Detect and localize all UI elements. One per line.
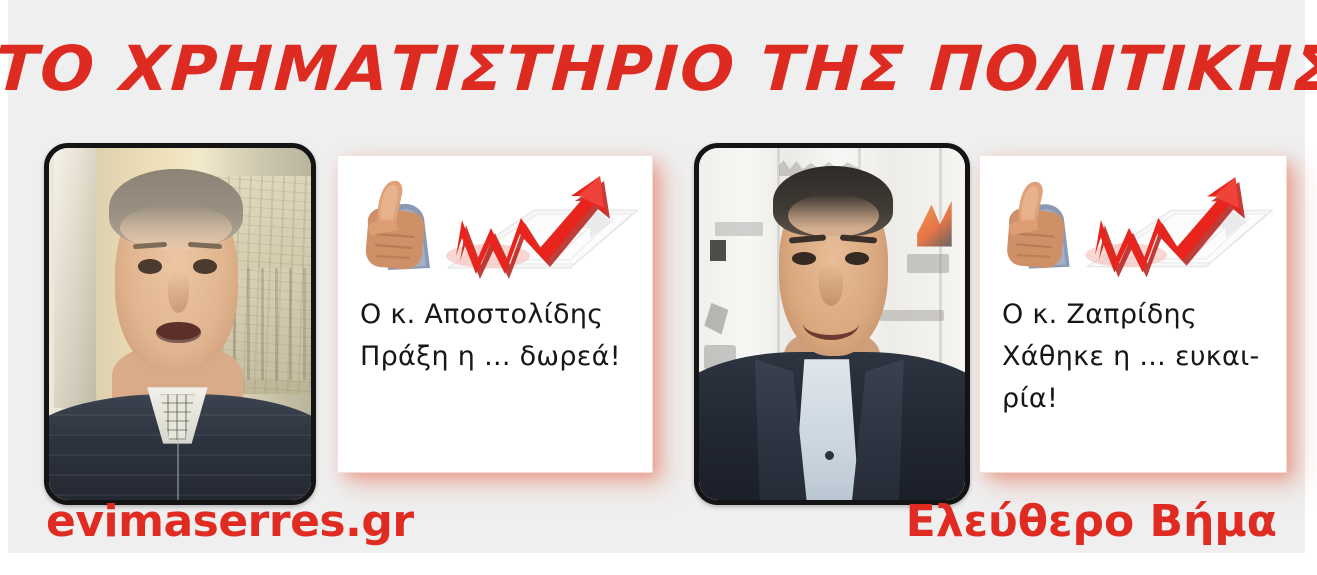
thumbs-up-hand: [1007, 182, 1069, 269]
caption-line: Χάθηκε η ... ευκαι-: [1002, 336, 1264, 378]
photo-backdrop-logo: [907, 254, 950, 273]
caption-line: Ο κ. Ζαπρίδης: [1002, 294, 1264, 336]
caption-text: Ο κ. Αποστολίδης Πράξη η ... δωρεά!: [338, 280, 652, 378]
caption-line: ρία!: [1002, 378, 1264, 420]
brand-eleuthero-vima: Ελεύθερο Βήμα: [906, 500, 1277, 544]
photo-nose: [819, 264, 843, 306]
caption-line: Ο κ. Αποστολίδης: [360, 294, 630, 336]
photo-backdrop-logo: [880, 310, 944, 321]
photo-hair: [109, 169, 243, 246]
poster-plate: ΤΟ ΧΡΗΜΑΤΙΣΤΗΡΙΟ ΤΗΣ ΠΟΛΙΤΙΚΗΣ: [8, 0, 1305, 553]
portrait-photo: [699, 148, 965, 500]
portrait-apostolidis: [44, 143, 316, 505]
photo-eye-right: [193, 259, 217, 274]
thumbs-up-rising-arrow-icon: [980, 156, 1286, 280]
portrait-photo: [49, 148, 311, 500]
caption-card-apostolidis: Ο κ. Αποστολίδης Πράξη η ... δωρεά!: [338, 156, 652, 472]
caption-text: Ο κ. Ζαπρίδης Χάθηκε η ... ευκαι- ρία!: [980, 280, 1286, 420]
stock-chart-graphic: [338, 156, 652, 280]
photo-mouth: [156, 322, 201, 343]
caption-line: Πράξη η ... δωρεά!: [360, 336, 630, 378]
photo-zipper: [177, 430, 179, 500]
poster-canvas: ΤΟ ΧΡΗΜΑΤΙΣΤΗΡΙΟ ΤΗΣ ΠΟΛΙΤΙΚΗΣ: [0, 0, 1317, 575]
photo-eye-right: [845, 252, 869, 265]
brand-evimaserres[interactable]: evimaserres.gr: [46, 500, 414, 544]
photo-window: [54, 148, 96, 408]
photo-hair: [773, 166, 893, 236]
photo-eye-left: [138, 259, 162, 274]
photo-backdrop-logo: [710, 240, 726, 261]
photo-eye-left: [792, 252, 816, 265]
thumbs-up-rising-arrow-icon: [338, 156, 652, 280]
photo-backdrop-logo: [715, 222, 763, 236]
photo-mouth: [803, 306, 859, 339]
portrait-zapridis: [694, 143, 970, 505]
thumbs-up-hand: [366, 181, 430, 270]
stock-chart-graphic: [980, 156, 1286, 280]
caption-card-zapridis: Ο κ. Ζαπρίδης Χάθηκε η ... ευκαι- ρία!: [980, 156, 1286, 472]
page-title: ΤΟ ΧΡΗΜΑΤΙΣΤΗΡΙΟ ΤΗΣ ΠΟΛΙΤΙΚΗΣ: [0, 38, 1317, 100]
